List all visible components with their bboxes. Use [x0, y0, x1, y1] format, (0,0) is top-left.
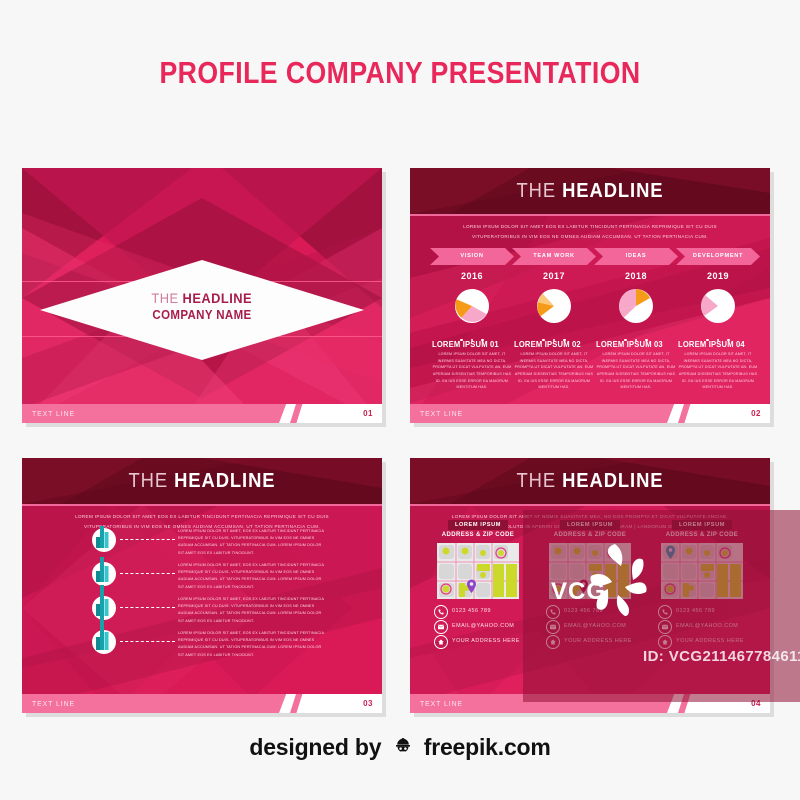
column-1-title: LOREM IPSUM 01: [432, 340, 508, 349]
card-subtitle: ADDRESS & ZIP CODE: [428, 532, 528, 538]
dashed-connector: [120, 539, 175, 540]
slide-2-header: THE HEADLINE: [410, 168, 770, 214]
slide-1-title-bold: HEADLINE: [183, 290, 253, 306]
slide-1[interactable]: THE HEADLINE COMPANY NAME TEXT LINE 01: [22, 168, 382, 423]
home-icon: [546, 635, 560, 649]
list-item[interactable]: LOREM IPSUM DOLOR SIT AMET, EOS EX LABIT…: [92, 528, 372, 558]
street-address: YOUR ADDRESS HERE: [564, 635, 632, 647]
slide-1-title: THE HEADLINE: [152, 291, 253, 307]
card-contacts: 0123 456 789 EMAIL@YAHOO.COM YOUR ADDRES…: [540, 605, 640, 650]
ribbon-item-development[interactable]: DEVELOPMENT: [676, 248, 760, 265]
credit-prefix: designed by: [249, 734, 381, 760]
list-item[interactable]: LOREM IPSUM DOLOR SIT AMET, EOS EX LABIT…: [92, 596, 372, 626]
card-badge: LOREM IPSUM: [448, 520, 508, 530]
contact-phone[interactable]: 0123 456 789: [540, 605, 640, 620]
envelope-icon: [434, 620, 448, 634]
contact-card[interactable]: LOREM IPSUM ADDRESS & ZIP CODE: [540, 520, 640, 650]
card-badge: LOREM IPSUM: [672, 520, 732, 530]
email-address: EMAIL@YAHOO.COM: [676, 620, 738, 632]
slide-1-footer: TEXT LINE 01: [22, 404, 382, 423]
contact-card[interactable]: LOREM IPSUM ADDRESS & ZIP CODE: [428, 520, 528, 650]
column-3-body: LOREM IPSUM DOLOR SIT AMET, IT INERMIS S…: [596, 351, 676, 391]
email-address: EMAIL@YAHOO.COM: [452, 620, 514, 632]
slide-4-headline: THE HEADLINE: [424, 458, 755, 504]
slide-3-header: THE HEADLINE: [22, 458, 382, 504]
slide-1-title-thin: THE: [152, 290, 179, 306]
bar-chart-icon: [92, 562, 116, 586]
street-address: YOUR ADDRESS HERE: [452, 635, 520, 647]
ribbon-item-vision[interactable]: VISION: [430, 248, 514, 265]
pie-chart-row: [430, 288, 750, 326]
slide-3-footer-text: TEXT LINE: [32, 694, 75, 713]
column-4-body: LOREM IPSUM DOLOR SIT AMET, IT INERMIS S…: [678, 351, 758, 391]
contact-address[interactable]: YOUR ADDRESS HERE: [652, 635, 752, 650]
pie-dot-row: [430, 328, 750, 336]
dashed-connector: [120, 607, 175, 608]
slide-2-footer: TEXT LINE 02: [410, 404, 770, 423]
street-address: YOUR ADDRESS HERE: [676, 635, 744, 647]
slide-2[interactable]: THE HEADLINE LOREM IPSUM DOLOR SIT AMET …: [410, 168, 770, 423]
pie-chart-2016: [432, 288, 512, 326]
timeline-ribbon: VISION TEAM WORK IDEAS DEVELOPMENT: [430, 248, 750, 265]
year-2018: 2018: [596, 271, 676, 281]
card-contacts: 0123 456 789 EMAIL@YAHOO.COM YOUR ADDRES…: [428, 605, 528, 650]
home-icon: [434, 635, 448, 649]
slide-3[interactable]: THE HEADLINE LOREM IPSUM DOLOR SIT AMET …: [22, 458, 382, 713]
pie-chart-2017: [514, 288, 594, 326]
contact-email[interactable]: EMAIL@YAHOO.COM: [652, 620, 752, 635]
freepik-mascot-icon: [392, 737, 414, 764]
pie-chart-2019: [678, 288, 758, 326]
slide-3-list: LOREM IPSUM DOLOR SIT AMET, EOS EX LABIT…: [22, 528, 382, 668]
column-3: LOREM IPSUM 03 LOREM IPSUM DOLOR SIT AME…: [596, 340, 676, 391]
slide-4-footer: TEXT LINE 04: [410, 694, 770, 713]
pie-chart-2018: [596, 288, 676, 326]
slide-2-number: 02: [751, 404, 761, 423]
column-4-title: LOREM IPSUM 04: [678, 340, 754, 349]
slide-3-headline: THE HEADLINE: [36, 458, 367, 504]
slide-3-number: 03: [363, 694, 373, 713]
bar-chart-icon: [92, 630, 116, 654]
column-2-body: LOREM IPSUM DOLOR SIT AMET, IT INERMIS S…: [514, 351, 594, 391]
contact-card[interactable]: LOREM IPSUM ADDRESS & ZIP CODE: [652, 520, 752, 650]
column-1: LOREM IPSUM 01 LOREM IPSUM DOLOR SIT AME…: [432, 340, 512, 391]
card-contacts: 0123 456 789 EMAIL@YAHOO.COM YOUR ADDRES…: [652, 605, 752, 650]
credit-suffix: freepik.com: [424, 734, 551, 760]
dashed-connector: [120, 573, 175, 574]
page-title: PROFILE COMPANY PRESENTATION: [56, 55, 744, 91]
poster-root: PROFILE COMPANY PRESENTATION: [0, 0, 800, 800]
phone-icon: [434, 605, 448, 619]
column-2-title: LOREM IPSUM 02: [514, 340, 590, 349]
envelope-icon: [658, 620, 672, 634]
column-3-title: LOREM IPSUM 03: [596, 340, 672, 349]
slide-1-footer-text: TEXT LINE: [32, 404, 75, 423]
contact-address[interactable]: YOUR ADDRESS HERE: [428, 635, 528, 650]
card-subtitle: ADDRESS & ZIP CODE: [540, 532, 640, 538]
map-thumbnail[interactable]: [437, 543, 519, 599]
slide-1-title-block: THE HEADLINE COMPANY NAME: [22, 290, 382, 322]
intro-line-1: LOREM IPSUM DOLOR SIT AMET EOS EX LABITU…: [52, 512, 352, 522]
card-badge: LOREM IPSUM: [560, 520, 620, 530]
credit-line: designed by freepik.com: [0, 734, 800, 764]
contact-phone[interactable]: 0123 456 789: [652, 605, 752, 620]
slide-2-intro: LOREM IPSUM DOLOR SIT AMET EOS EX LABITU…: [440, 222, 740, 241]
slide-4-number: 04: [751, 694, 761, 713]
slide-4-footer-text: TEXT LINE: [420, 694, 463, 713]
slide-1-subtitle: COMPANY NAME: [36, 308, 367, 322]
ribbon-item-team-work[interactable]: TEAM WORK: [512, 248, 596, 265]
headline-bold: HEADLINE: [562, 180, 663, 202]
column-2: LOREM IPSUM 02 LOREM IPSUM DOLOR SIT AME…: [514, 340, 594, 391]
slide-4-header: THE HEADLINE: [410, 458, 770, 504]
home-icon: [658, 635, 672, 649]
contact-phone[interactable]: 0123 456 789: [428, 605, 528, 620]
map-thumbnail[interactable]: [549, 543, 631, 599]
slide-1-number: 01: [363, 404, 373, 423]
list-item-text: LOREM IPSUM DOLOR SIT AMET, EOS EX LABIT…: [178, 596, 324, 625]
intro-line-2: VITUPERATORIBUS IN VIM EOS NE OMNES AUDI…: [440, 232, 740, 242]
list-item-text: LOREM IPSUM DOLOR SIT AMET, EOS EX LABIT…: [178, 528, 324, 557]
year-2017: 2017: [514, 271, 594, 281]
timeline-years: 2016 2017 2018 2019: [430, 271, 750, 285]
phone-number: 0123 456 789: [452, 605, 491, 617]
slide-4[interactable]: THE HEADLINE LOREM IPSUM DOLOR SIT AMET …: [410, 458, 770, 713]
bar-chart-icon: [92, 528, 116, 552]
slide-2-headline: THE HEADLINE: [424, 168, 755, 214]
headline-thin: THE: [516, 180, 556, 202]
header-rule: [410, 214, 770, 216]
contact-address[interactable]: YOUR ADDRESS HERE: [540, 635, 640, 650]
map-thumbnail[interactable]: [661, 543, 743, 599]
phone-icon: [546, 605, 560, 619]
slide-4-cards: LOREM IPSUM ADDRESS & ZIP CODE: [410, 520, 770, 690]
list-item-text: LOREM IPSUM DOLOR SIT AMET, EOS EX LABIT…: [178, 630, 324, 659]
list-item-text: LOREM IPSUM DOLOR SIT AMET, EOS EX LABIT…: [178, 562, 324, 591]
slide-2-footer-text: TEXT LINE: [420, 404, 463, 423]
list-item[interactable]: LOREM IPSUM DOLOR SIT AMET, EOS EX LABIT…: [92, 630, 372, 660]
year-2016: 2016: [432, 271, 512, 281]
intro-line-1: LOREM IPSUM DOLOR SIT AMET EOS EX LABITU…: [440, 222, 740, 232]
phone-number: 0123 456 789: [676, 605, 715, 617]
contact-email[interactable]: EMAIL@YAHOO.COM: [540, 620, 640, 635]
envelope-icon: [546, 620, 560, 634]
email-address: EMAIL@YAHOO.COM: [564, 620, 626, 632]
card-subtitle: ADDRESS & ZIP CODE: [652, 532, 752, 538]
ribbon-item-ideas[interactable]: IDEAS: [594, 248, 678, 265]
phone-number: 0123 456 789: [564, 605, 603, 617]
dashed-connector: [120, 641, 175, 642]
column-4: LOREM IPSUM 04 LOREM IPSUM DOLOR SIT AME…: [678, 340, 758, 391]
slide-grid: THE HEADLINE COMPANY NAME TEXT LINE 01: [0, 168, 800, 728]
column-1-body: LOREM IPSUM DOLOR SIT AMET, IT INERMIS S…: [432, 351, 512, 391]
list-item[interactable]: LOREM IPSUM DOLOR SIT AMET, EOS EX LABIT…: [92, 562, 372, 592]
phone-icon: [658, 605, 672, 619]
slide-3-footer: TEXT LINE 03: [22, 694, 382, 713]
contact-email[interactable]: EMAIL@YAHOO.COM: [428, 620, 528, 635]
year-2019: 2019: [678, 271, 758, 281]
